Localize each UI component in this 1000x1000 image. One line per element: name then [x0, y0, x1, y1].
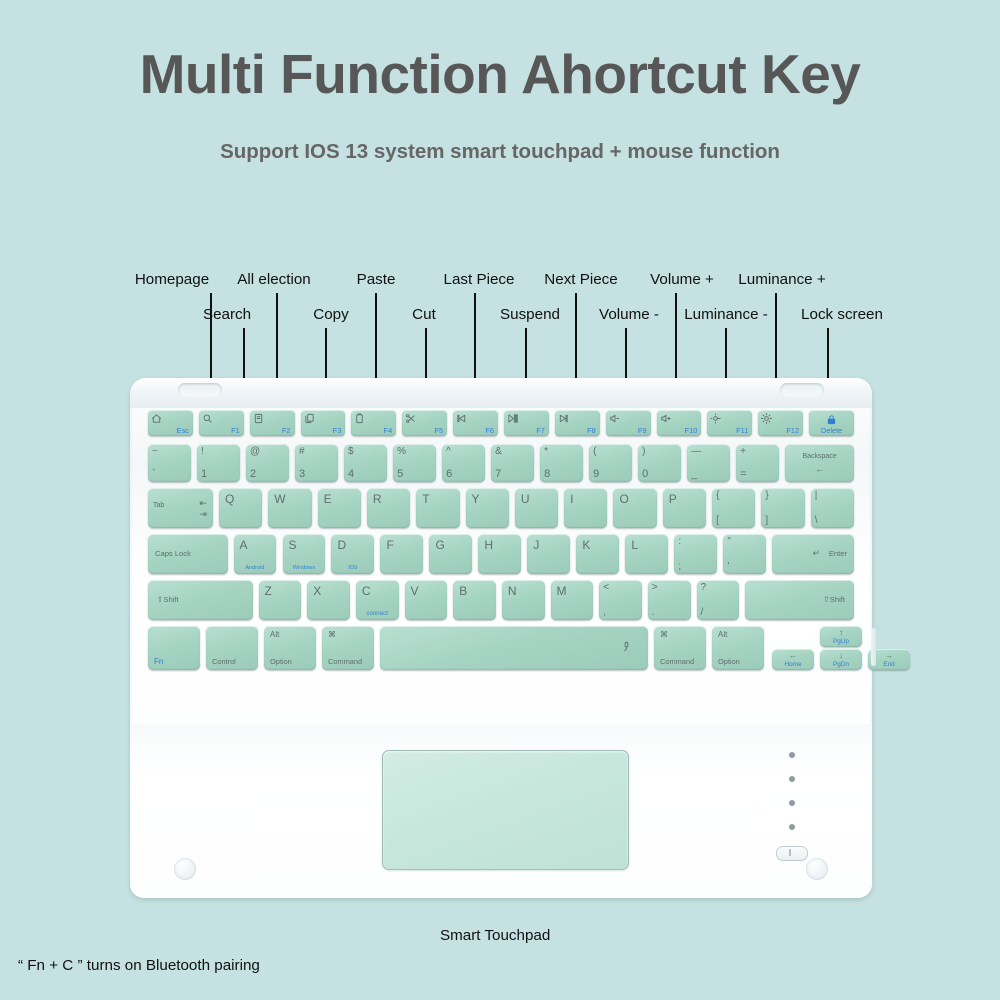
hinge-notch-right	[780, 383, 824, 397]
key-W[interactable]: W	[268, 488, 311, 528]
key-legend-shifted: (	[593, 446, 596, 457]
touchpad-caption: Smart Touchpad	[440, 927, 550, 944]
key-5[interactable]: %5	[393, 444, 436, 482]
key-space[interactable]	[380, 626, 648, 670]
key-f6[interactable]: F6	[453, 410, 498, 436]
page-title: Multi Function Ahortcut Key	[0, 42, 1000, 106]
key-legend: F6	[485, 426, 494, 435]
key-legend-shifted: *	[544, 446, 548, 457]
key-\[interactable]: |\	[811, 488, 854, 528]
callout-label: Cut	[412, 306, 436, 323]
key-legend: Y	[472, 492, 480, 506]
scissors-icon	[405, 411, 416, 429]
key-f1[interactable]: F1	[199, 410, 244, 436]
keyboard-device: EscF1F2F3F4F5F6F7F8F9F10F11F12Delete~`!1…	[130, 378, 872, 898]
key-I[interactable]: I	[564, 488, 607, 528]
key-legend: ]	[765, 515, 768, 526]
key-Enter[interactable]: Enter↵	[772, 534, 854, 574]
key-f2[interactable]: F2	[250, 410, 295, 436]
key-legend: 3	[299, 468, 305, 480]
key-option[interactable]: AltOption	[264, 626, 316, 670]
callout-label: Luminance -	[684, 306, 768, 323]
key-legend: N	[508, 584, 517, 598]
key-legend: '	[727, 561, 729, 572]
key-legend-shifted: :	[678, 536, 681, 547]
key-legend: Tab	[153, 502, 164, 509]
key-legend-shifted: ^	[446, 446, 451, 457]
key-K[interactable]: K	[576, 534, 619, 574]
key-legend: 8	[544, 468, 550, 480]
key-Y[interactable]: Y	[466, 488, 509, 528]
key-N[interactable]: N	[502, 580, 545, 620]
key-legend: F3	[333, 426, 342, 435]
paste-icon	[354, 411, 365, 429]
key-legend: 4	[348, 468, 354, 480]
key-8[interactable]: *8	[540, 444, 583, 482]
key-J[interactable]: J	[527, 534, 570, 574]
key-][interactable]: }]	[761, 488, 804, 528]
key-legend: V	[411, 584, 419, 598]
key-L[interactable]: L	[625, 534, 668, 574]
key-fn[interactable]: Fn	[148, 626, 200, 670]
volume-down-icon	[609, 411, 620, 429]
key-legend: U	[521, 492, 530, 506]
key-A[interactable]: AAndroid	[234, 534, 277, 574]
key-legend-shifted: #	[299, 446, 305, 457]
page-subtitle: Support IOS 13 system smart touchpad + m…	[0, 140, 1000, 164]
key-legend: _	[691, 468, 697, 480]
previous-track-icon	[456, 411, 467, 429]
callout-label: Last Piece	[444, 271, 515, 288]
key-legend: C	[362, 584, 371, 598]
key-legend: `	[152, 468, 156, 480]
enter-arrow-icon: ↵	[812, 548, 820, 559]
key-f9[interactable]: F9	[606, 410, 651, 436]
key-sublabel: Android	[234, 565, 277, 571]
key-_[interactable]: —_	[687, 444, 730, 482]
key-legend: W	[274, 492, 285, 506]
key-legend: A	[240, 538, 248, 552]
key-V[interactable]: V	[405, 580, 448, 620]
select-all-icon	[253, 411, 264, 429]
volume-up-icon	[660, 411, 671, 429]
key-legend-shifted: —	[691, 446, 701, 457]
key-legend: G	[435, 538, 444, 552]
key-legend: Delete	[809, 426, 854, 435]
key-legend: Control	[212, 657, 236, 666]
key-U[interactable]: U	[515, 488, 558, 528]
key-legend: Option	[718, 657, 740, 666]
key-4[interactable]: $4	[344, 444, 387, 482]
key-legend: Caps Lock	[155, 549, 191, 558]
key-;[interactable]: :;	[674, 534, 717, 574]
key-Caps Lock[interactable]: Caps Lock	[148, 534, 228, 574]
key-legend: H	[484, 538, 493, 552]
key-legend-shifted: @	[250, 446, 260, 457]
key-arrow-up[interactable]: ↑PgUp	[820, 626, 862, 647]
key-legend: X	[313, 584, 321, 598]
key-legend: J	[533, 538, 539, 552]
key-`[interactable]: ~`	[148, 444, 191, 482]
key-f4[interactable]: F4	[351, 410, 396, 436]
key-legend-shifted: +	[740, 446, 746, 457]
key-command-right[interactable]: ⌘Command	[654, 626, 706, 670]
key-arrow-left[interactable]: ←Home	[772, 649, 814, 670]
key-legend-shifted: "	[727, 536, 731, 547]
key-legend: F12	[786, 426, 799, 435]
key-legend-top: Alt	[270, 630, 279, 639]
key-Z[interactable]: Z	[259, 580, 302, 620]
key-legend-shifted: )	[642, 446, 645, 457]
key-option-right[interactable]: AltOption	[712, 626, 764, 670]
mouse-icon	[621, 639, 632, 657]
indicator-dot	[789, 776, 795, 782]
key-legend-shifted: <	[603, 582, 609, 593]
key-sublabel: Home	[772, 661, 814, 668]
key-legend: \	[815, 515, 818, 526]
key-H[interactable]: H	[478, 534, 521, 574]
key-P[interactable]: P	[663, 488, 706, 528]
key-legend: F7	[536, 426, 545, 435]
key-legend: F11	[736, 426, 748, 435]
key-legend: O	[619, 492, 628, 506]
key-legend-shifted: |	[815, 490, 818, 501]
key-legend: Option	[270, 657, 292, 666]
search-icon	[202, 411, 213, 429]
play-pause-icon	[507, 411, 518, 429]
key-f5[interactable]: F5	[402, 410, 447, 436]
key-legend-shifted: ~	[152, 446, 158, 457]
key-legend: B	[459, 584, 467, 598]
key-legend: Fn	[154, 657, 163, 666]
key-legend: /	[701, 607, 704, 618]
key-f10[interactable]: F10	[657, 410, 702, 436]
key-S[interactable]: SWindows	[283, 534, 326, 574]
key-legend: S	[289, 538, 297, 552]
tab-arrows-icon: ⇤⇥	[199, 498, 207, 520]
key-legend: L	[631, 538, 638, 552]
side-port	[871, 628, 876, 666]
key-legend: 2	[250, 468, 256, 480]
key-esc[interactable]: Esc	[148, 410, 193, 436]
key-legend: 7	[495, 468, 501, 480]
key-legend: Enter	[829, 549, 847, 558]
key-command[interactable]: ⌘Command	[322, 626, 374, 670]
callout-label: Volume -	[599, 306, 659, 323]
key-f7[interactable]: F7	[504, 410, 549, 436]
key-legend: F8	[587, 426, 596, 435]
key-O[interactable]: O	[613, 488, 656, 528]
key-legend-shifted: &	[495, 446, 502, 457]
key-legend-shifted: ?	[701, 582, 707, 593]
next-track-icon	[558, 411, 569, 429]
key-legend-shifted: }	[765, 490, 768, 501]
key-2[interactable]: @2	[246, 444, 289, 482]
key-legend: [	[716, 515, 719, 526]
key-legend-top: ⌘	[328, 630, 336, 639]
key-legend: K	[582, 538, 590, 552]
key-deck: EscF1F2F3F4F5F6F7F8F9F10F11F12Delete~`!1…	[130, 402, 872, 724]
arrow-glyph-icon: ↑	[820, 628, 862, 637]
key-sublabel: PgUp	[820, 638, 862, 645]
brightness-down-icon	[710, 411, 721, 429]
key-legend: 0	[642, 468, 648, 480]
key-3[interactable]: #3	[295, 444, 338, 482]
key-legend: ⇧Shift	[157, 595, 179, 604]
rubber-foot-right	[806, 858, 828, 880]
key-legend: Backspace	[785, 453, 854, 460]
key-legend: R	[373, 492, 382, 506]
key-D[interactable]: DIOS	[331, 534, 374, 574]
palm-rest	[130, 724, 872, 898]
smart-touchpad[interactable]	[382, 750, 629, 870]
key-sublabel: PgDn	[820, 661, 862, 668]
key-legend: M	[557, 584, 567, 598]
key-F[interactable]: F	[380, 534, 423, 574]
key-f8[interactable]: F8	[555, 410, 600, 436]
key-sublabel: IOS	[331, 565, 374, 571]
key-legend: .	[652, 607, 655, 618]
backspace-arrow-icon: ←	[785, 464, 854, 474]
key-legend: I	[570, 492, 573, 506]
callout-label: Luminance +	[738, 271, 825, 288]
key-Q[interactable]: Q	[219, 488, 262, 528]
key-legend-shifted: %	[397, 446, 406, 457]
key-legend: F9	[638, 426, 647, 435]
callout-label: Copy	[313, 306, 348, 323]
indicator-dot	[789, 824, 795, 830]
key-legend-top: ⌘	[660, 630, 668, 639]
key-legend: 9	[593, 468, 599, 480]
key-Shift[interactable]: ⇧Shift	[148, 580, 253, 620]
arrow-glyph-icon: ←	[772, 651, 814, 660]
key-legend-shifted: !	[201, 446, 204, 457]
key-legend-shifted: {	[716, 490, 719, 501]
key-arrow-down[interactable]: ↓PgDn	[820, 649, 862, 670]
key-Backspace[interactable]: Backspace←	[785, 444, 854, 482]
key-legend: ,	[603, 607, 606, 618]
key-G[interactable]: G	[429, 534, 472, 574]
key-,[interactable]: <,	[599, 580, 642, 620]
callout-label: Search	[203, 306, 251, 323]
indicator-dot	[789, 752, 795, 758]
key-X[interactable]: X	[307, 580, 350, 620]
key-legend: Q	[225, 492, 234, 506]
key-7[interactable]: &7	[491, 444, 534, 482]
key-legend: Esc	[177, 426, 189, 435]
bluetooth-caption: “ Fn + C ” turns on Bluetooth pairing	[18, 957, 260, 974]
key-'[interactable]: "'	[723, 534, 766, 574]
key-legend: D	[337, 538, 346, 552]
key-.[interactable]: >.	[648, 580, 691, 620]
arrow-glyph-icon: ↓	[820, 651, 862, 660]
key-legend: F5	[435, 426, 444, 435]
key-T[interactable]: T	[416, 488, 459, 528]
key-legend: P	[669, 492, 677, 506]
key-legend: 1	[201, 468, 207, 480]
key-/[interactable]: ?/	[697, 580, 740, 620]
key-legend: F2	[282, 426, 291, 435]
key-f12[interactable]: F12	[758, 410, 803, 436]
home-icon	[151, 411, 162, 429]
key-[[interactable]: {[	[712, 488, 755, 528]
indicator-dot	[789, 800, 795, 806]
key-legend-shifted: $	[348, 446, 354, 457]
key-6[interactable]: ^6	[442, 444, 485, 482]
key-legend-top: Alt	[718, 630, 727, 639]
brightness-up-icon	[761, 411, 772, 429]
key-9[interactable]: (9	[589, 444, 632, 482]
callout-label: Homepage	[135, 271, 209, 288]
key-f11[interactable]: F11	[707, 410, 752, 436]
callout-label: Paste	[357, 271, 396, 288]
copy-icon	[304, 411, 315, 429]
key-legend: ;	[678, 561, 681, 572]
key-=[interactable]: +=	[736, 444, 779, 482]
hinge-notch-left	[178, 383, 222, 397]
key-legend-shifted: >	[652, 582, 658, 593]
key-legend: ⇧Shift	[823, 595, 845, 604]
key-legend: F	[386, 538, 393, 552]
key-legend: 5	[397, 468, 403, 480]
key-legend: Command	[660, 657, 694, 666]
callout-label: All election	[237, 271, 310, 288]
key-legend: =	[740, 468, 746, 480]
key-M[interactable]: M	[551, 580, 594, 620]
key-legend: 6	[446, 468, 452, 480]
key-sublabel: Windows	[283, 565, 326, 571]
key-control[interactable]: Control	[206, 626, 258, 670]
key-E[interactable]: E	[318, 488, 361, 528]
key-f3[interactable]: F3	[301, 410, 346, 436]
key-0[interactable]: )0	[638, 444, 681, 482]
key-delete[interactable]: Delete	[809, 410, 854, 436]
power-switch[interactable]	[776, 846, 808, 861]
key-1[interactable]: !1	[197, 444, 240, 482]
callout-label: Next Piece	[544, 271, 617, 288]
key-legend: E	[324, 492, 332, 506]
rubber-foot-left	[174, 858, 196, 880]
key-Tab[interactable]: Tab⇤⇥	[148, 488, 213, 528]
callout-label: Lock screen	[801, 306, 883, 323]
key-B[interactable]: B	[453, 580, 496, 620]
key-legend: Command	[328, 657, 362, 666]
key-sublabel: connect	[356, 611, 399, 617]
key-legend: F1	[231, 426, 240, 435]
callout-label: Volume +	[650, 271, 714, 288]
key-legend: F10	[685, 426, 698, 435]
key-legend: Z	[265, 584, 272, 598]
key-R[interactable]: R	[367, 488, 410, 528]
key-legend: F4	[384, 426, 393, 435]
key-C[interactable]: Cconnect	[356, 580, 399, 620]
callout-label: Suspend	[500, 306, 560, 323]
key-Shift[interactable]: ⇧Shift	[745, 580, 854, 620]
key-legend: T	[422, 492, 429, 506]
